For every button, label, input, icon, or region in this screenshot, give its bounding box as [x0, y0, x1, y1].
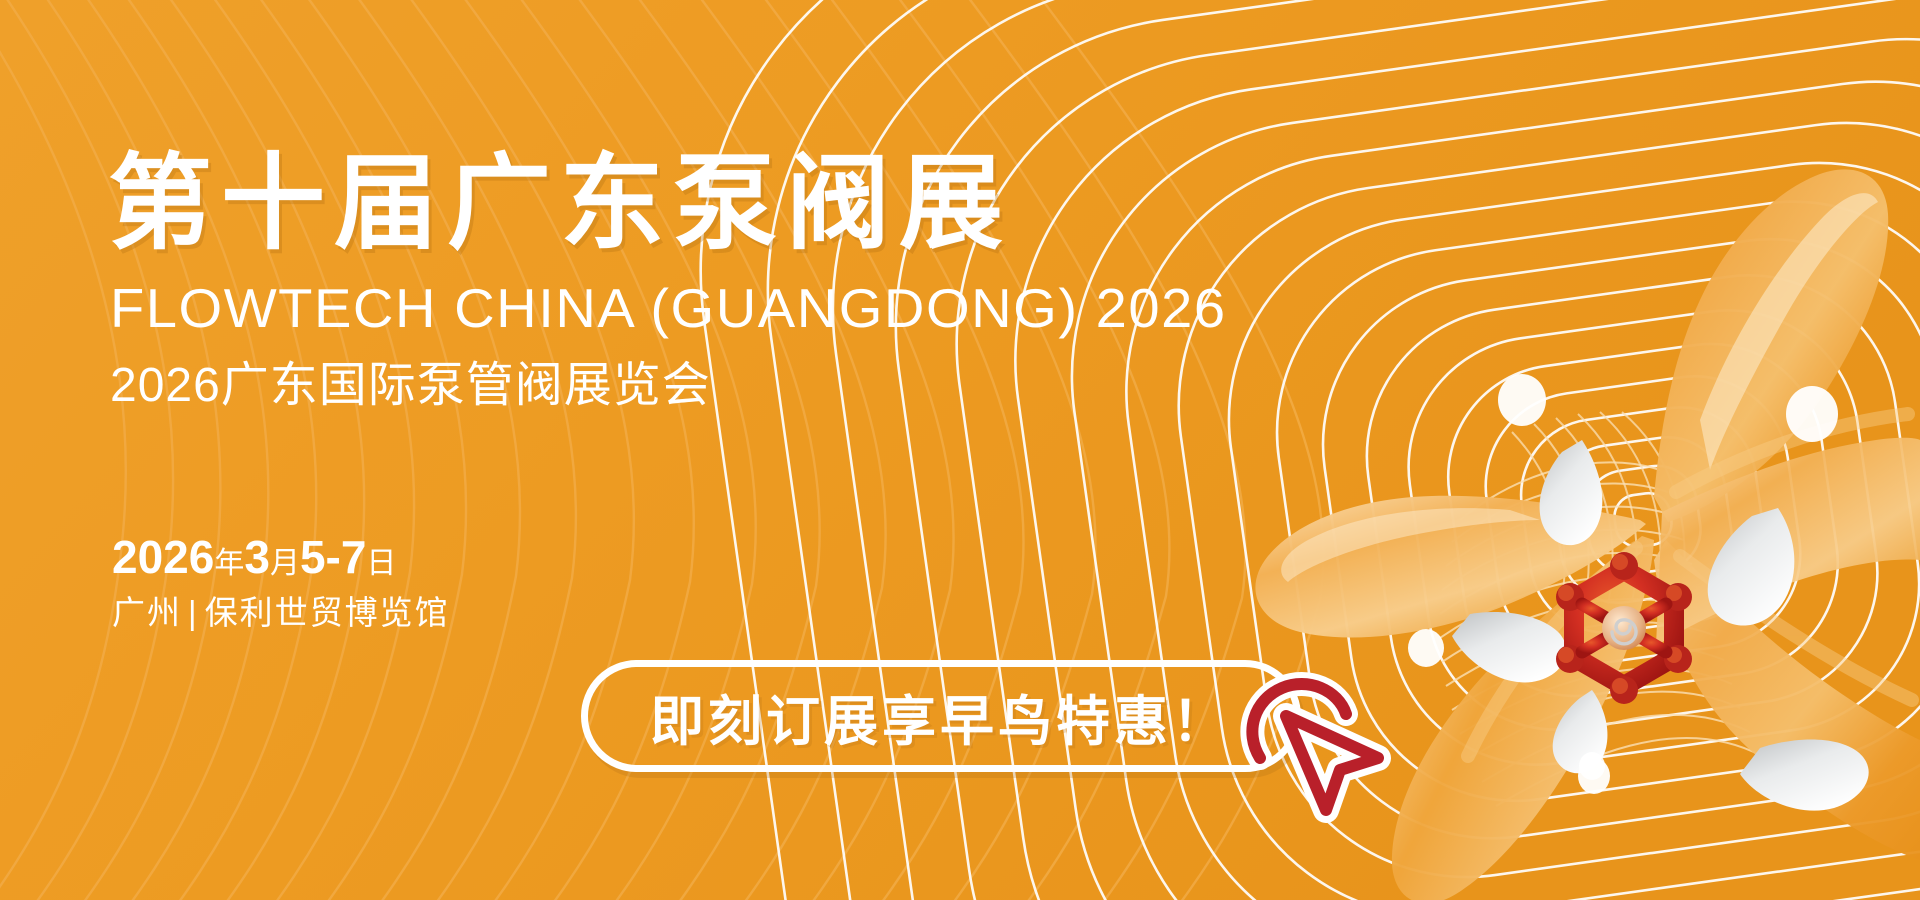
valve-handwheel-icon: [1556, 552, 1692, 704]
venue-hall: 保利世贸博览馆: [205, 594, 450, 631]
mouse-cursor-click-icon: [1230, 662, 1400, 832]
date-month: 3: [244, 531, 270, 583]
early-bird-cta-button[interactable]: 即刻订展享早鸟特惠！: [581, 660, 1301, 772]
date-month-unit: 月: [270, 547, 300, 580]
date-day-unit: 日: [366, 547, 396, 580]
date-days: 5-7: [300, 531, 366, 583]
water-droplets: [1408, 374, 1869, 811]
subtitle-chinese: 2026广东国际泵管阀展览会: [110, 362, 711, 410]
venue-city: 广州: [112, 594, 182, 631]
venue-separator: |: [182, 594, 205, 631]
page-title: 第十届广东泵阀展: [108, 152, 1012, 256]
event-date: 2026年3月5-7日: [112, 534, 396, 580]
cta-label: 即刻订展享早鸟特惠！: [581, 660, 1301, 772]
event-venue: 广州|保利世贸博览馆: [112, 596, 450, 629]
radiating-strands: [1440, 462, 1762, 806]
banner-canvas: 第十届广东泵阀展 FLOWTECH CHINA (GUANGDONG) 2026…: [0, 0, 1920, 900]
date-year-unit: 年: [214, 547, 244, 580]
title-english: FLOWTECH CHINA (GUANGDONG) 2026: [110, 281, 1227, 336]
date-year: 2026: [112, 531, 214, 583]
